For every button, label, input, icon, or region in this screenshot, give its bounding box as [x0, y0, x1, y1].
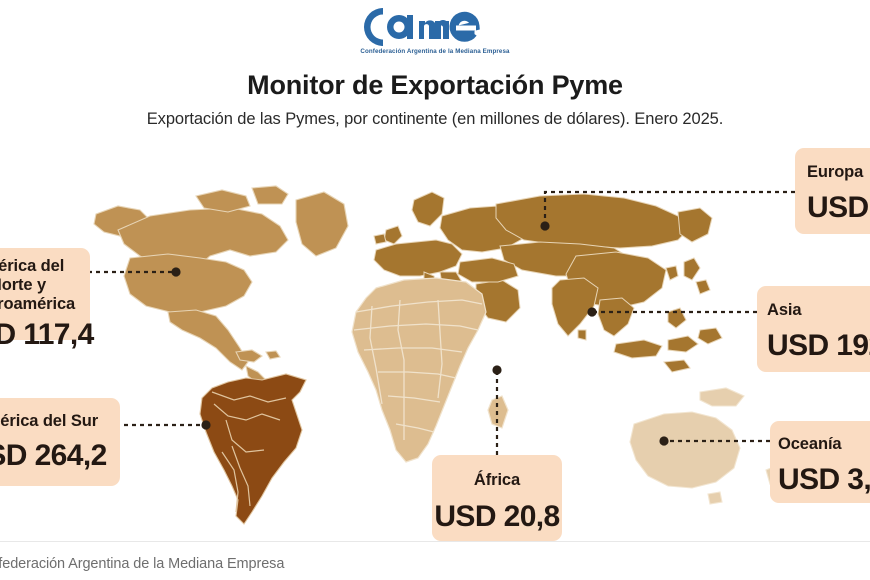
- map-region-asia: [458, 194, 722, 372]
- map-region-oceania: [630, 388, 786, 504]
- callout-africa-label: África: [432, 471, 562, 490]
- map-region-north-america: [94, 186, 348, 384]
- footer: Confederación Argentina de la Mediana Em…: [0, 541, 870, 580]
- infographic-root: Confederación Argentina de la Mediana Em…: [0, 0, 870, 580]
- callout-north-america-value: USD 117,4: [0, 320, 82, 350]
- callout-south-america[interactable]: América del Sur USD 264,2: [0, 398, 120, 486]
- footer-text: Confederación Argentina de la Mediana Em…: [0, 556, 284, 572]
- callout-north-america-label: América del Norte y Centroamérica: [0, 257, 82, 313]
- callout-europe[interactable]: Europa USD 1: [795, 148, 870, 234]
- callout-africa-value: USD 20,8: [432, 502, 562, 532]
- callout-south-america-label: América del Sur: [0, 412, 112, 431]
- callout-south-america-value: USD 264,2: [0, 441, 112, 471]
- callout-europe-label: Europa: [807, 163, 870, 182]
- map-region-south-america: [200, 374, 306, 524]
- callout-europe-value: USD 1: [807, 193, 870, 223]
- callout-asia-value: USD 192,4: [767, 331, 870, 361]
- callout-asia[interactable]: Asia USD 192,4: [757, 286, 870, 372]
- callout-oceania[interactable]: Oceanía USD 3,3: [770, 421, 870, 503]
- callout-oceania-value: USD 3,3: [778, 465, 870, 495]
- callout-oceania-label: Oceanía: [778, 435, 870, 454]
- callout-africa[interactable]: África USD 20,8: [432, 455, 562, 541]
- callout-asia-label: Asia: [767, 301, 870, 320]
- callout-north-america[interactable]: América del Norte y Centroamérica USD 11…: [0, 248, 90, 340]
- map-region-africa: [352, 278, 508, 462]
